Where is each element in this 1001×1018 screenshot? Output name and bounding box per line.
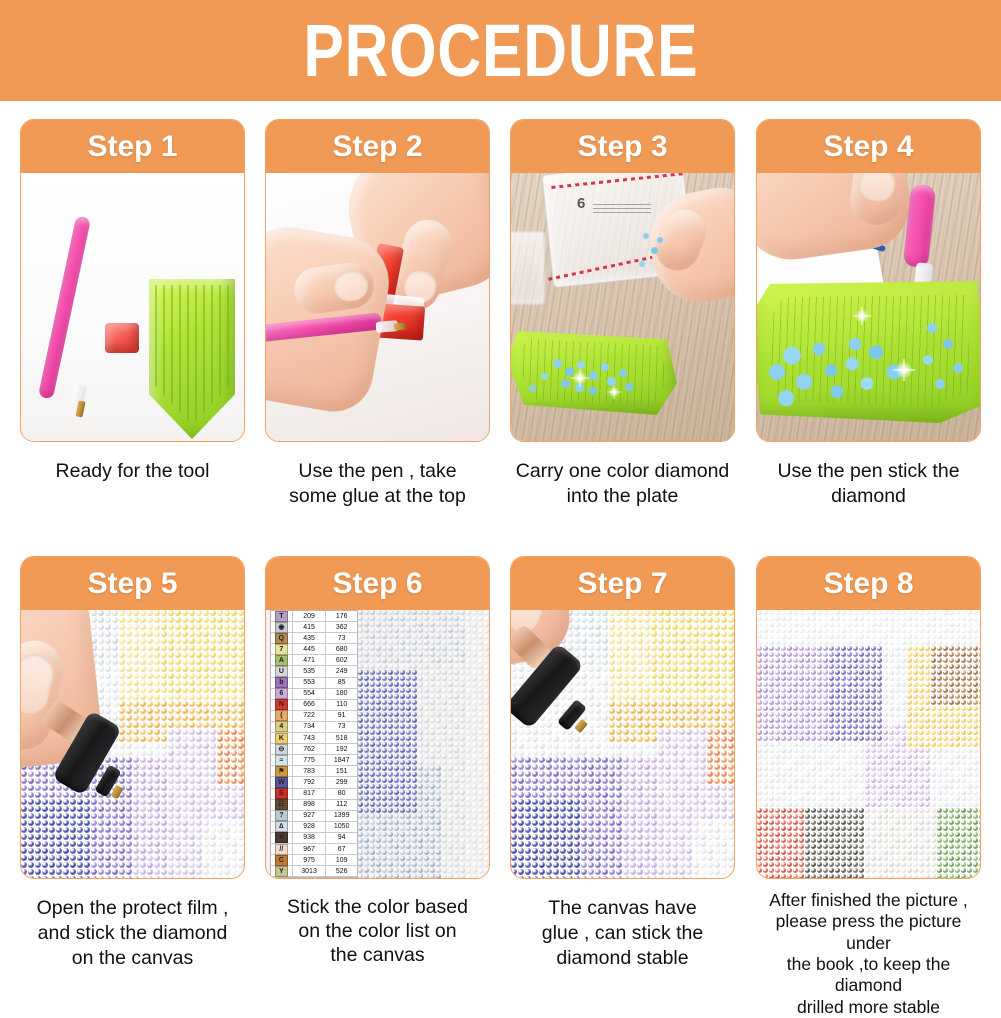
canvas-bead [769,748,774,753]
canvas-bead [700,827,706,833]
canvas-bead [364,706,369,711]
canvas-bead [418,790,423,795]
canvas-bead [672,624,678,630]
canvas-bead [406,748,411,753]
canvas-bead [919,712,924,717]
canvas-bead [126,799,132,805]
pink-pen [38,215,91,399]
canvas-bead [154,785,160,791]
canvas-bead [700,869,706,875]
canvas-bead [973,712,978,717]
canvas-bead [693,701,699,707]
canvas-bead [406,628,411,633]
step-card-8[interactable]: Step 8 [756,556,981,879]
canvas-bead [478,730,483,735]
canvas-bead [424,646,429,651]
canvas-bead [460,718,465,723]
canvas-bead [388,640,393,645]
canvas-bead [154,771,160,777]
canvas-bead [728,848,734,854]
canvas-bead [532,764,538,770]
canvas-bead [877,700,882,705]
canvas-bead [574,876,580,878]
canvas-bead [651,715,657,721]
canvas-bead [595,862,601,868]
canvas-bead [382,772,387,777]
canvas-bead [943,718,948,723]
canvas-bead [539,813,545,819]
canvas-bead [518,750,524,756]
canvas-bead [161,708,167,714]
canvas-bead [973,718,978,723]
canvas-bead [602,673,608,679]
canvas-bead [781,664,786,669]
canvas-bead [168,722,174,728]
canvas-bead [466,874,471,878]
canvas-bead [787,658,792,663]
canvas-bead [623,799,629,805]
canvas-bead [418,748,423,753]
canvas-bead [889,694,894,699]
canvas-bead [686,645,692,651]
canvas-bead [913,748,918,753]
canvas-bead [567,631,573,637]
canvas-bead [119,652,125,658]
canvas-bead [203,876,209,878]
canvas-bead [217,799,223,805]
canvas-bead [430,688,435,693]
canvas-bead [841,640,846,645]
canvas-bead [442,838,447,843]
canvas-bead [560,701,566,707]
canvas-bead [478,790,483,795]
canvas-bead [112,862,118,868]
canvas-bead [595,610,601,616]
canvas-bead [847,706,852,711]
color-list-row: K743518 [271,733,357,744]
canvas-bead [595,799,601,805]
canvas-bead [728,834,734,840]
canvas-bead [931,718,936,723]
canvas-bead [91,799,97,805]
color-count-cell: 1050 [326,822,357,832]
canvas-bead [602,638,608,644]
canvas-bead [871,610,876,615]
canvas-bead [388,706,393,711]
canvas-bead [370,616,375,621]
color-code-cell: 817 [293,789,327,799]
canvas-bead [388,634,393,639]
canvas-bead [394,832,399,837]
canvas-bead [168,841,174,847]
canvas-bead [472,868,477,873]
canvas-bead [871,676,876,681]
canvas-bead [511,869,517,875]
color-symbol-cell: Y [271,866,293,876]
canvas-bead [973,700,978,705]
canvas-bead [400,652,405,657]
canvas-bead [707,680,713,686]
canvas-bead [217,869,223,875]
canvas-bead [877,736,882,741]
canvas-bead [406,646,411,651]
canvas-bead [637,722,643,728]
canvas-bead [539,834,545,840]
canvas-bead [203,680,209,686]
canvas-bead [853,754,858,759]
canvas-bead [895,640,900,645]
canvas-bead [140,806,146,812]
canvas-bead [630,764,636,770]
canvas-bead [478,736,483,741]
canvas-bead [595,722,601,728]
canvas-bead [382,628,387,633]
canvas-bead [112,708,118,714]
tray-bead [601,363,609,371]
canvas-bead [382,802,387,807]
canvas-bead [574,827,580,833]
canvas-bead [182,785,188,791]
canvas-bead [147,694,153,700]
canvas-bead [448,742,453,747]
canvas-bead [588,771,594,777]
canvas-bead [35,820,41,826]
canvas-bead [823,658,828,663]
canvas-bead [721,827,727,833]
canvas-bead [672,834,678,840]
canvas-bead [412,778,417,783]
canvas-bead [126,638,132,644]
canvas-bead [388,628,393,633]
canvas-bead [707,757,713,763]
canvas-bead [518,869,524,875]
canvas-bead [161,743,167,749]
canvas-bead [484,652,489,657]
canvas-bead [721,771,727,777]
canvas-bead [382,670,387,675]
canvas-bead [835,652,840,657]
canvas-bead [853,730,858,735]
canvas-bead [823,676,828,681]
canvas-bead [448,718,453,723]
canvas-bead [595,736,601,742]
canvas-bead [406,832,411,837]
canvas-bead [728,792,734,798]
canvas-bead [560,799,566,805]
color-list-row: N666110 [271,700,357,711]
canvas-bead [757,718,762,723]
canvas-bead [161,827,167,833]
canvas-bead [518,785,524,791]
canvas-bead [364,694,369,699]
step-card-7[interactable]: Step 7 [510,556,735,879]
canvas-bead [967,688,972,693]
canvas-bead [781,712,786,717]
canvas-bead [175,841,181,847]
canvas-bead [567,827,573,833]
canvas-bead [460,658,465,663]
canvas-bead [484,676,489,681]
canvas-bead [616,624,622,630]
canvas-bead [574,638,580,644]
canvas-bead [382,610,387,615]
canvas-bead [665,624,671,630]
step-card-6[interactable]: Step 6 T209176◉415362Q435737445680A47160… [265,556,490,879]
canvas-bead [979,700,980,705]
canvas-bead [210,799,216,805]
canvas-bead [442,784,447,789]
canvas-bead [168,869,174,875]
canvas-bead [448,724,453,729]
canvas-bead [799,628,804,633]
canvas-bead [937,628,942,633]
canvas-bead [189,645,195,651]
color-symbol-cell: ☷ [271,800,293,810]
canvas-bead [119,848,125,854]
canvas-bead [665,764,671,770]
canvas-bead [133,729,139,735]
canvas-bead [154,876,160,878]
canvas-bead [472,634,477,639]
canvas-bead [358,844,363,849]
canvas-bead [901,706,906,711]
canvas-bead [382,844,387,849]
canvas-bead [955,616,960,621]
canvas-bead [484,856,489,861]
canvas-bead [161,631,167,637]
canvas-bead [672,645,678,651]
canvas-bead [553,792,559,798]
canvas-bead [871,652,876,657]
canvas-bead [175,792,181,798]
canvas-bead [364,826,369,831]
canvas-bead [877,646,882,651]
canvas-bead [518,813,524,819]
canvas-bead [693,764,699,770]
canvas-bead [418,616,423,621]
canvas-bead [454,802,459,807]
canvas-bead [424,676,429,681]
canvas-bead [442,754,447,759]
canvas-bead [406,652,411,657]
canvas-bead [595,624,601,630]
canvas-bead [412,622,417,627]
canvas-bead [231,757,237,763]
canvas-bead [484,844,489,849]
canvas-bead [793,628,798,633]
canvas-bead [616,764,622,770]
canvas-bead [967,676,972,681]
canvas-bead [70,841,76,847]
canvas-bead [382,736,387,741]
canvas-bead [394,802,399,807]
canvas-bead [126,757,132,763]
canvas-bead [388,772,393,777]
canvas-bead [400,724,405,729]
canvas-bead [35,785,41,791]
canvas-bead [364,634,369,639]
canvas-bead [518,855,524,861]
canvas-bead [454,652,459,657]
canvas-bead [728,694,734,700]
canvas-bead [859,682,864,687]
canvas-bead [210,624,216,630]
canvas-bead [466,670,471,675]
canvas-bead [672,729,678,735]
canvas-bead [895,682,900,687]
color-count-cell: 526 [326,866,357,876]
color-list-row: ⚑783151 [271,766,357,777]
canvas-bead [693,638,699,644]
canvas-bead [799,742,804,747]
canvas-bead [406,712,411,717]
tray-bead [529,385,536,392]
canvas-bead [238,834,244,840]
color-list-row: //96767 [271,844,357,855]
canvas-bead [672,792,678,798]
canvas-bead [364,718,369,723]
canvas-bead [829,646,834,651]
step-card-1[interactable]: Step 1 [20,119,245,442]
canvas-bead [889,634,894,639]
canvas-bead [616,701,622,707]
canvas-bead [623,757,629,763]
canvas-bead [133,645,139,651]
color-symbol-cell: 4 [271,722,293,732]
canvas-bead [430,826,435,831]
canvas-bead [949,742,954,747]
canvas-bead [961,646,966,651]
canvas-bead [370,868,375,873]
canvas-bead [98,659,104,665]
canvas-bead [835,640,840,645]
canvas-bead [406,730,411,735]
canvas-bead [609,743,615,749]
canvas-bead [448,838,453,843]
color-code-cell: 975 [293,855,327,865]
canvas-bead [644,785,650,791]
canvas-bead [835,658,840,663]
canvas-bead [147,673,153,679]
canvas-bead [182,834,188,840]
canvas-bead [829,670,834,675]
canvas-bead [581,659,587,665]
tray-bead [935,379,945,389]
canvas-bead [147,701,153,707]
canvas-bead [388,820,393,825]
scene-pen-on-canvas [21,610,244,878]
canvas-bead [442,658,447,663]
canvas-bead [979,610,980,615]
canvas-bead [889,676,894,681]
canvas-bead [518,764,524,770]
canvas-bead [70,799,76,805]
canvas-bead [231,827,237,833]
canvas-bead [835,676,840,681]
tray-bead [553,359,562,368]
canvas-bead [448,796,453,801]
canvas-bead [388,652,393,657]
canvas-bead [877,694,882,699]
canvas-bead [658,750,664,756]
canvas-bead [823,664,828,669]
canvas-bead [799,670,804,675]
canvas-bead [394,748,399,753]
canvas-bead [679,764,685,770]
canvas-bead [175,687,181,693]
canvas-bead [210,645,216,651]
canvas-bead [889,610,894,615]
step-card-3[interactable]: Step 3 6 [510,119,735,442]
canvas-bead [644,757,650,763]
canvas-bead [616,659,622,665]
canvas-bead [460,688,465,693]
canvas-bead [412,862,417,867]
canvas-bead [623,687,629,693]
canvas-bead [943,700,948,705]
canvas-bead [546,848,552,854]
canvas-bead [210,631,216,637]
canvas-bead [700,771,706,777]
canvas-bead [853,652,858,657]
canvas-bead [757,712,762,717]
canvas-bead [907,688,912,693]
canvas-bead [693,848,699,854]
canvas-bead [581,617,587,623]
canvas-bead [865,610,870,615]
canvas-bead [364,640,369,645]
canvas-bead [787,748,792,753]
canvas-bead [895,754,900,759]
canvas-bead [865,652,870,657]
canvas-bead [484,832,489,837]
canvas-bead [588,645,594,651]
canvas-bead [394,700,399,705]
color-list-row: 6554180 [271,689,357,700]
canvas-bead [412,706,417,711]
canvas-bead [400,832,405,837]
canvas-bead [588,624,594,630]
step-card-5[interactable]: Step 5 [20,556,245,879]
canvas-bead [412,694,417,699]
canvas-bead [847,676,852,681]
canvas-bead [907,652,912,657]
canvas-bead [616,820,622,826]
canvas-bead [961,736,966,741]
canvas-bead [943,682,948,687]
canvas-bead [400,742,405,747]
canvas-bead [466,778,471,783]
canvas-bead [472,622,477,627]
canvas-bead [406,826,411,831]
step-card-2[interactable]: Step 2 [265,119,490,442]
canvas-bead [147,848,153,854]
canvas-bead [973,634,978,639]
step-card-4[interactable]: Step 4 [756,119,981,442]
canvas-bead [63,806,69,812]
step-header-label: Step 4 [823,132,913,162]
canvas-bead [442,748,447,753]
canvas-bead [728,757,734,763]
canvas-bead [448,772,453,777]
canvas-bead [763,700,768,705]
canvas-bead [560,855,566,861]
canvas-bead [913,622,918,627]
canvas-bead [907,616,912,621]
canvas-bead [175,736,181,742]
canvas-bead [581,806,587,812]
canvas-bead [210,722,216,728]
